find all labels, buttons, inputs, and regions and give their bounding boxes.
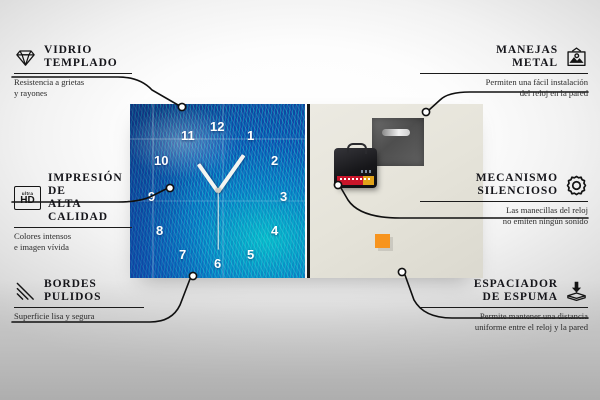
feature-heading: MANEJAS METAL bbox=[420, 44, 588, 70]
feature-title-line: BORDES bbox=[44, 278, 101, 291]
feature-title-line: TEMPLADO bbox=[44, 57, 118, 70]
foam-spacer-icon bbox=[565, 280, 588, 303]
divider bbox=[420, 73, 588, 74]
feature-heading: BORDES PULIDOS bbox=[14, 278, 144, 304]
feature-subtitle-line: del reloj en la pared bbox=[420, 88, 588, 99]
feature-subtitle-line: Permite mantener una distancia bbox=[420, 311, 588, 322]
connector-dot-vidrio-templado bbox=[178, 103, 185, 110]
connector-dot-mecanismo bbox=[334, 181, 341, 188]
feature-title-line: PULIDOS bbox=[44, 291, 101, 304]
feature-title-line: DE ESPUMA bbox=[474, 291, 558, 304]
feature-subtitle-line: Resistencia a grietas bbox=[14, 77, 132, 88]
feature-subtitle-line: e imagen vívida bbox=[14, 242, 132, 253]
feature-impresion-alta-calidad: ultra HD IMPRESIÓN DE ALTA CALIDAD Color… bbox=[14, 172, 132, 252]
connector-dot-manejas bbox=[422, 108, 429, 115]
divider bbox=[420, 307, 588, 308]
feature-title-line: SILENCIOSO bbox=[476, 185, 558, 198]
connector-dot-espaciador bbox=[398, 268, 405, 275]
picture-hanger-icon bbox=[565, 46, 588, 69]
feature-subtitle-line: Permiten una fácil instalación bbox=[420, 77, 588, 88]
feature-title-line: IMPRESIÓN DE bbox=[48, 172, 132, 198]
feature-title-line: METAL bbox=[496, 57, 558, 70]
ultra-hd-badge-icon: ultra HD bbox=[14, 186, 41, 210]
feature-bordes-pulidos: BORDES PULIDOS Superficie lisa y segura bbox=[14, 278, 144, 322]
feature-subtitle-line: no emiten ningún sonido bbox=[420, 216, 588, 227]
feature-espaciador-espuma: ESPACIADOR DE ESPUMA Permite mantener un… bbox=[420, 278, 588, 332]
feature-subtitle-line: y rayones bbox=[14, 88, 132, 99]
polished-edge-icon bbox=[14, 280, 37, 303]
feature-manejas-metal: MANEJAS METAL Permiten una fácil instala… bbox=[420, 44, 588, 98]
feature-heading: MECANISMO SILENCIOSO bbox=[420, 172, 588, 198]
feature-heading: ESPACIADOR DE ESPUMA bbox=[420, 278, 588, 304]
feature-title-line: VIDRIO bbox=[44, 44, 118, 57]
feature-subtitle-line: Las manecillas del reloj bbox=[420, 205, 588, 216]
connector-dot-impresion bbox=[166, 184, 173, 191]
feature-title-line: ESPACIADOR bbox=[474, 278, 558, 291]
feature-heading: VIDRIO TEMPLADO bbox=[14, 44, 132, 70]
diamond-icon bbox=[14, 46, 37, 69]
feature-vidrio-templado: VIDRIO TEMPLADO Resistencia a grietas y … bbox=[14, 44, 132, 98]
divider bbox=[14, 73, 132, 74]
connector-dot-bordes bbox=[189, 272, 196, 279]
feature-subtitle-line: uniforme entre el reloj y la pared bbox=[420, 322, 588, 333]
feature-subtitle-line: Superficie lisa y segura bbox=[14, 311, 144, 322]
feature-mecanismo-silencioso: MECANISMO SILENCIOSO Las manecillas del … bbox=[420, 172, 588, 226]
divider bbox=[14, 227, 132, 228]
ultra-hd-large-text: HD bbox=[20, 196, 34, 206]
feature-title-line: MECANISMO bbox=[476, 172, 558, 185]
feature-title-line: MANEJAS bbox=[496, 44, 558, 57]
divider bbox=[420, 201, 588, 202]
divider bbox=[14, 307, 144, 308]
gear-icon bbox=[565, 174, 588, 197]
feature-heading: ultra HD IMPRESIÓN DE ALTA CALIDAD bbox=[14, 172, 132, 224]
feature-subtitle-line: Colores intensos bbox=[14, 231, 132, 242]
infographic-canvas: 12 1 2 3 4 5 6 7 8 9 10 11 bbox=[0, 0, 600, 400]
feature-title-line: ALTA CALIDAD bbox=[48, 198, 132, 224]
